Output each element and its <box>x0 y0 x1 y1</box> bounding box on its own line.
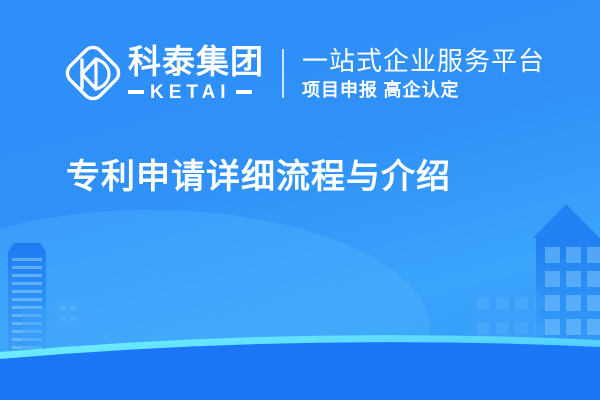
vertical-divider-icon <box>282 49 284 98</box>
page-title: 专利申请详细流程与介绍 <box>66 156 451 198</box>
dash-left-icon <box>128 90 144 94</box>
company-name-en-row: KETAI <box>128 83 264 102</box>
center-block-group <box>468 290 547 356</box>
tagline-block: 一站式企业服务平台 项目申报 高企认定 <box>302 46 545 101</box>
right-front-block-group <box>468 291 540 356</box>
curved-horizon-arc-icon <box>0 335 600 359</box>
patent-process-banner: 科泰集团 KETAI 一站式企业服务平台 项目申报 高企认定 专利申请详细流程与… <box>0 0 600 400</box>
company-name-cn: 科泰集团 <box>128 45 264 79</box>
ketai-diamond-kd-monogram-icon <box>62 42 124 104</box>
tagline-main: 一站式企业服务平台 <box>302 46 545 76</box>
left-midrise-group <box>22 300 100 360</box>
right-peaked-tower-group <box>533 204 600 358</box>
company-name-en: KETAI <box>144 83 236 102</box>
left-tower-group <box>8 243 46 356</box>
logo-wordmark: 科泰集团 KETAI <box>128 45 264 102</box>
dash-right-icon <box>236 90 252 94</box>
tagline-sub: 项目申报 高企认定 <box>302 79 545 101</box>
right-wide-group <box>466 288 542 356</box>
brand-row: 科泰集团 KETAI 一站式企业服务平台 项目申报 高企认定 <box>62 38 545 108</box>
